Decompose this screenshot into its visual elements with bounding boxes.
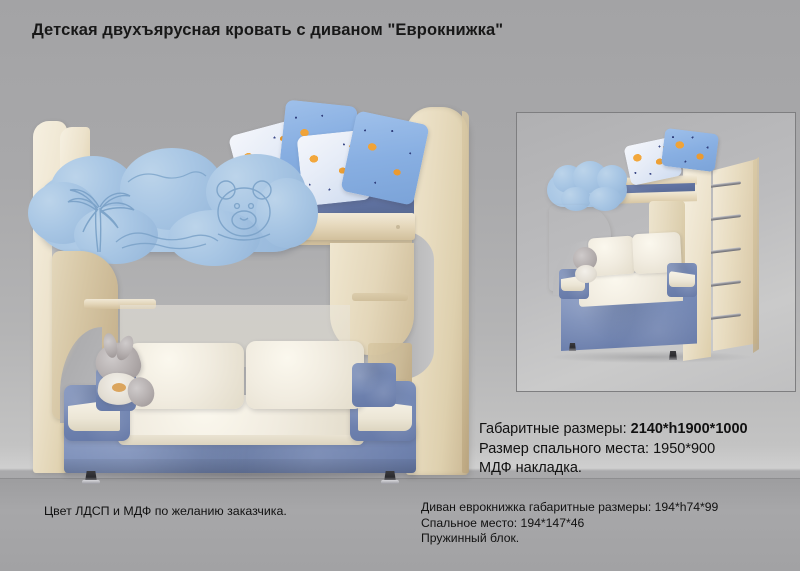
- right-support-groove: [352, 293, 408, 301]
- page-title: Детская двухъярусная кровать с диваном "…: [32, 21, 503, 40]
- spec-sleeping-place: Размер спального места: 1950*900: [479, 440, 794, 460]
- specs-main-block: Габаритные размеры: 2140*h1900*1000 Разм…: [479, 420, 794, 479]
- inset-plush-toy-2: [575, 265, 597, 283]
- sofa-spec-spring-block: Пружинный блок.: [421, 531, 796, 547]
- color-note: Цвет ЛДСП и МДФ по желанию заказчика.: [44, 504, 287, 518]
- spec-overall-dimensions: Габаритные размеры: 2140*h1900*1000: [479, 420, 794, 440]
- specs-sofa-block: Диван еврокнижка габаритные размеры: 194…: [421, 500, 796, 547]
- inset-pillow-2: [661, 128, 719, 172]
- island-icon: [112, 220, 222, 254]
- sofa-leg-left-cap: [82, 480, 100, 484]
- product-sheet-page: Детская двухъярусная кровать с диваном "…: [0, 0, 800, 571]
- fish-icon: [124, 166, 210, 192]
- main-product-photo: [0, 55, 500, 485]
- plush-toy-muzzle: [112, 383, 126, 392]
- right-panel-edge: [462, 111, 469, 473]
- sofa-leg-right-cap: [381, 480, 399, 484]
- spec-mdf-overlay: МДФ накладка.: [479, 459, 794, 479]
- top-engraving: [124, 166, 210, 192]
- sofa-spec-sleeping-place: Спальное место: 194*147*46: [421, 516, 796, 532]
- sofa-seat-lip: [118, 435, 364, 445]
- sofa-base-shade: [64, 459, 416, 473]
- rail-screw-right: [396, 225, 400, 229]
- sofa-back-cushion-right: [246, 341, 364, 409]
- inset-ladder-panel-edge: [753, 157, 759, 353]
- inset-ladder-panel: [713, 159, 757, 351]
- island-engraving: [112, 220, 222, 254]
- sofa-spec-dimensions: Диван еврокнижка габаритные размеры: 194…: [421, 500, 796, 516]
- sofa-backrest-right: [352, 363, 396, 407]
- spec-overall-value: 2140*h1900*1000: [631, 421, 748, 437]
- inset-sofa-leg-left: [569, 343, 576, 351]
- spec-overall-label: Габаритные размеры:: [479, 421, 631, 437]
- inset-sofa-leg-right: [669, 351, 677, 360]
- inset-product-photo: [516, 112, 796, 392]
- inset-product-shadow: [551, 351, 751, 363]
